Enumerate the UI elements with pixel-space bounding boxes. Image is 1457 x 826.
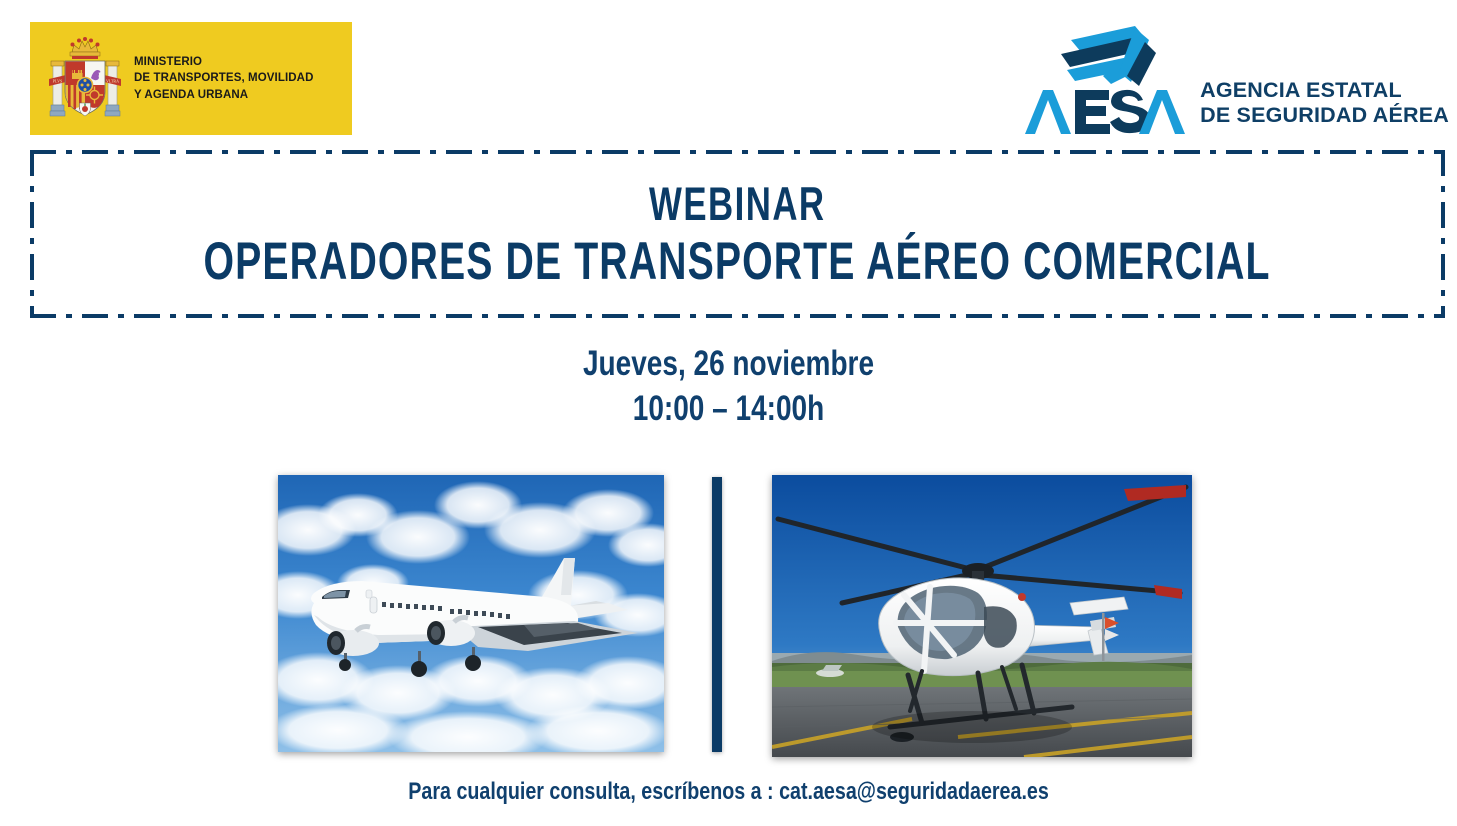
ministry-line-3: Y AGENDA URBANA — [134, 87, 313, 103]
aesa-logo-icon — [1023, 16, 1188, 136]
spain-coat-of-arms-icon: PLVS VLTRA — [48, 35, 122, 123]
webinar-title-box: WEBINAR OPERADORES DE TRANSPORTE AÉREO C… — [30, 150, 1445, 318]
webinar-eyebrow: WEBINAR — [649, 180, 826, 227]
commercial-airplane-photo — [278, 475, 664, 752]
event-time: 10:00 – 14:00h — [146, 387, 1312, 432]
aesa-tagline-line-2: DE SEGURIDAD AÉREA — [1200, 103, 1449, 128]
event-date: Jueves, 26 noviembre — [146, 342, 1312, 387]
contact-footer: Para cualquier consulta, escríbenos a : … — [0, 778, 1457, 806]
photo-divider — [712, 477, 722, 752]
schedule-block: Jueves, 26 noviembre 10:00 – 14:00h — [0, 342, 1457, 432]
ministry-logo-block: PLVS VLTRA — [30, 22, 352, 135]
ministry-line-2: DE TRANSPORTES, MOVILIDAD — [134, 70, 313, 86]
page-title: OPERADORES DE TRANSPORTE AÉREO COMERCIAL — [204, 235, 1271, 288]
ministry-name: MINISTERIO DE TRANSPORTES, MOVILIDAD Y A… — [134, 54, 313, 103]
aesa-tagline: AGENCIA ESTATAL DE SEGURIDAD AÉREA — [1200, 78, 1449, 128]
media-row — [0, 475, 1457, 760]
aesa-tagline-line-1: AGENCIA ESTATAL — [1200, 78, 1449, 103]
ministry-line-1: MINISTERIO — [134, 54, 313, 70]
contact-text: Para cualquier consulta, escríbenos a : … — [408, 778, 1049, 806]
aesa-logo-block: AGENCIA ESTATAL DE SEGURIDAD AÉREA — [1023, 14, 1449, 136]
helicopter-photo — [772, 475, 1192, 757]
svg-text:VLTRA: VLTRA — [106, 78, 119, 83]
svg-text:PLVS: PLVS — [53, 78, 62, 83]
